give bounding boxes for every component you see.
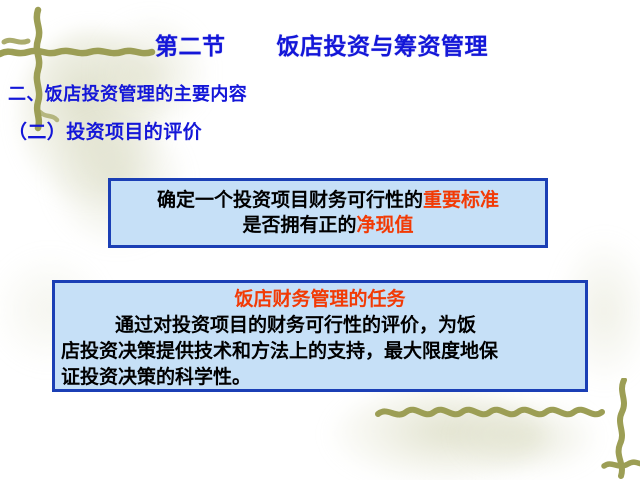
vine-vertical-ornament-icon [600, 378, 640, 480]
vine-horizontal-ornament-icon [374, 392, 609, 432]
callout-task-body-line-1: 通过对投资项目的财务可行性的评价，为饭 [61, 312, 579, 338]
callout-box-criteria: 确定一个投资项目财务可行性的重要标准 是否拥有正的净现值 [108, 178, 548, 248]
callout-criteria-line-2-highlight: 净现值 [357, 214, 414, 236]
background-watermark-bottom [330, 388, 545, 480]
callout-criteria-line-2-text: 是否拥有正的 [242, 214, 356, 236]
callout-criteria-line-1-text: 确定一个投资项目财务可行性的 [157, 189, 423, 211]
section-subtitle-secondary: （二）投资项目的评价 [8, 117, 202, 144]
callout-task-body-line-3: 证投资决策的科学性。 [61, 364, 579, 390]
callout-criteria-line-2: 是否拥有正的净现值 [111, 213, 545, 238]
background-watermark-bottom-right [452, 398, 602, 476]
callout-box-task: 饭店财务管理的任务 通过对投资项目的财务可行性的评价，为饭 店投资决策提供技术和… [52, 280, 588, 392]
callout-criteria-line-1-highlight: 重要标准 [423, 189, 499, 211]
callout-task-body-line-2: 店投资决策提供技术和方法上的支持，最大限度地保 [61, 338, 579, 364]
slide-canvas: 第二节 饭店投资与筹资管理 二、饭店投资管理的主要内容 （二）投资项目的评价 确… [0, 0, 640, 480]
callout-task-heading: 饭店财务管理的任务 [61, 287, 579, 312]
callout-criteria-line-1: 确定一个投资项目财务可行性的重要标准 [111, 188, 545, 213]
page-title: 第二节 饭店投资与筹资管理 [155, 27, 488, 61]
section-subtitle-primary: 二、饭店投资管理的主要内容 [8, 80, 247, 106]
